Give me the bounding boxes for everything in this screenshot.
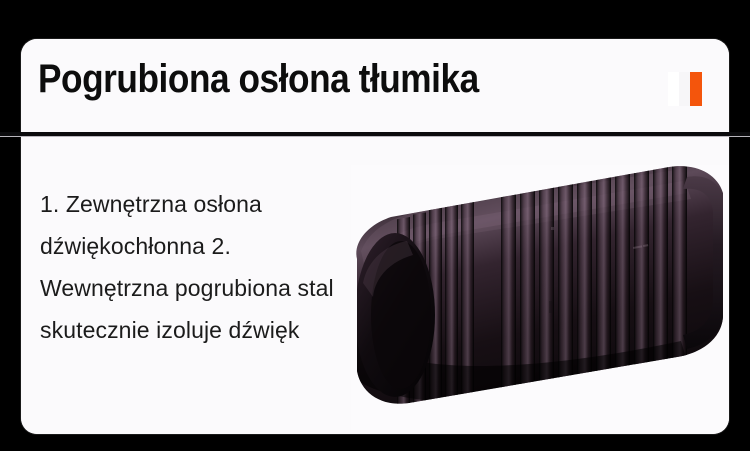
flag-bar-orange — [690, 72, 702, 106]
tricolour-flag-icon — [668, 72, 702, 106]
page-title: Pogrubiona osłona tłumika — [38, 57, 479, 101]
screenshot-canvas: Pogrubiona osłona tłumika 1. Zewnętrzna … — [0, 0, 750, 451]
muffler-heat-shield-illustration — [351, 165, 729, 430]
header-divider — [0, 132, 750, 136]
product-info-card: Pogrubiona osłona tłumika 1. Zewnętrzna … — [21, 39, 729, 434]
flag-bar-white — [668, 72, 679, 106]
product-description: 1. Zewnętrzna osłona dźwiękochłonna 2. W… — [40, 183, 350, 351]
flag-bar-offwhite — [679, 72, 690, 106]
muffler-heat-shield-photo — [351, 165, 729, 430]
card-header: Pogrubiona osłona tłumika — [21, 39, 729, 134]
card-body: 1. Zewnętrzna osłona dźwiękochłonna 2. W… — [21, 135, 729, 434]
